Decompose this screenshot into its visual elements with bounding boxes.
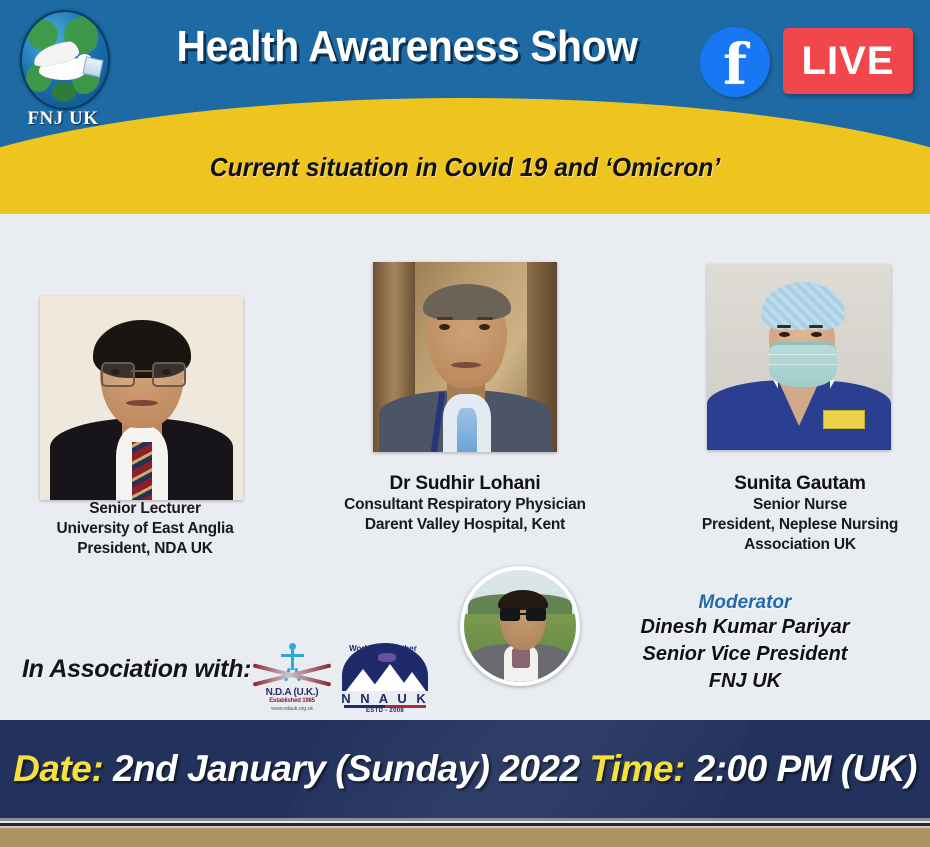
facebook-icon[interactable]: f <box>700 27 770 97</box>
speaker-card-3: Sunita Gautam Senior Nurse President, Ne… <box>655 464 930 555</box>
fnj-uk-logo: FNJ UK <box>14 10 112 132</box>
speaker-card-2: Dr Sudhir Lohani Consultant Respiratory … <box>320 464 610 535</box>
speaker-photo-3 <box>707 264 891 450</box>
association-label: In Association with: <box>22 655 251 684</box>
date-label: Date: <box>13 748 103 789</box>
nnauk-established: ESTD - 2008 <box>340 708 430 714</box>
date-value: 2nd January (Sunday) 2022 <box>113 748 580 789</box>
moderator-photo <box>460 566 580 686</box>
speaker-detail-3-2: Association UK <box>655 535 930 555</box>
nda-logo-name: N.D.A (U.K.) <box>250 687 334 698</box>
moderator-role-label: Moderator <box>590 592 900 614</box>
moderator-organisation: FNJ UK <box>590 668 900 695</box>
time-label: Time: <box>589 748 685 789</box>
sunglasses-icon <box>499 608 547 621</box>
nda-logo-established: Established 1985 <box>250 698 334 704</box>
speaker-detail-1-3: President, NDA UK <box>0 539 290 559</box>
speaker-detail-2-1: Darent Valley Hospital, Kent <box>320 515 610 535</box>
speaker-card-1: Dr Kamal Aryal Consultant Surgeon and Se… <box>0 244 290 559</box>
nda-logo-website: www.ndauk.org.uk <box>250 706 334 712</box>
nnauk-motto: Working Together <box>340 644 426 653</box>
moderator-title: Senior Vice President <box>590 641 900 668</box>
moderator-details: Moderator Dinesh Kumar Pariyar Senior Vi… <box>590 592 900 695</box>
globe-icon <box>20 10 110 110</box>
handshake-icon <box>378 653 396 662</box>
nda-uk-logo: N.D.A (U.K.) Established 1985 www.ndauk.… <box>250 643 334 715</box>
speaker-detail-1-1: Senior Lecturer <box>0 499 290 519</box>
nnauk-logo: Working Together N N A U K ESTD - 2008 <box>340 641 430 715</box>
nnauk-name: N N A U K <box>340 691 430 706</box>
facebook-f-glyph: f <box>700 30 770 100</box>
event-poster: FNJ UK Health Awareness Show f LIVE Curr… <box>0 0 930 847</box>
time-value: 2:00 PM (UK) <box>695 748 917 789</box>
speaker-detail-2-0: Consultant Respiratory Physician <box>320 495 610 515</box>
speaker-detail-3-1: President, Neplese Nursing <box>655 515 930 535</box>
poster-header: FNJ UK Health Awareness Show f LIVE Curr… <box>0 0 930 214</box>
moderator-name: Dinesh Kumar Pariyar <box>590 614 900 641</box>
poster-footer: Date: 2nd January (Sunday) 2022 Time: 2:… <box>0 720 930 818</box>
live-badge[interactable]: LIVE <box>783 28 913 94</box>
yellow-banner-base <box>0 180 930 214</box>
speaker-detail-3-0: Senior Nurse <box>655 495 930 515</box>
speaker-photo-1 <box>40 296 243 500</box>
event-datetime: Date: 2nd January (Sunday) 2022 Time: 2:… <box>0 720 930 818</box>
event-subtitle: Current situation in Covid 19 and ‘Omicr… <box>23 152 907 183</box>
newspaper-icon <box>82 56 103 77</box>
speaker-name-3: Sunita Gautam <box>655 473 930 495</box>
page-title: Health Awareness Show <box>142 22 672 72</box>
speaker-photo-2 <box>373 262 557 452</box>
bottom-tan-band <box>0 828 930 847</box>
dove-icon <box>29 42 101 88</box>
fnj-logo-label: FNJ UK <box>14 108 112 130</box>
speaker-detail-1-2: University of East Anglia <box>0 519 290 539</box>
speaker-name-2: Dr Sudhir Lohani <box>320 473 610 495</box>
live-badge-label: LIVE <box>783 28 913 94</box>
name-badge-icon <box>823 410 865 429</box>
